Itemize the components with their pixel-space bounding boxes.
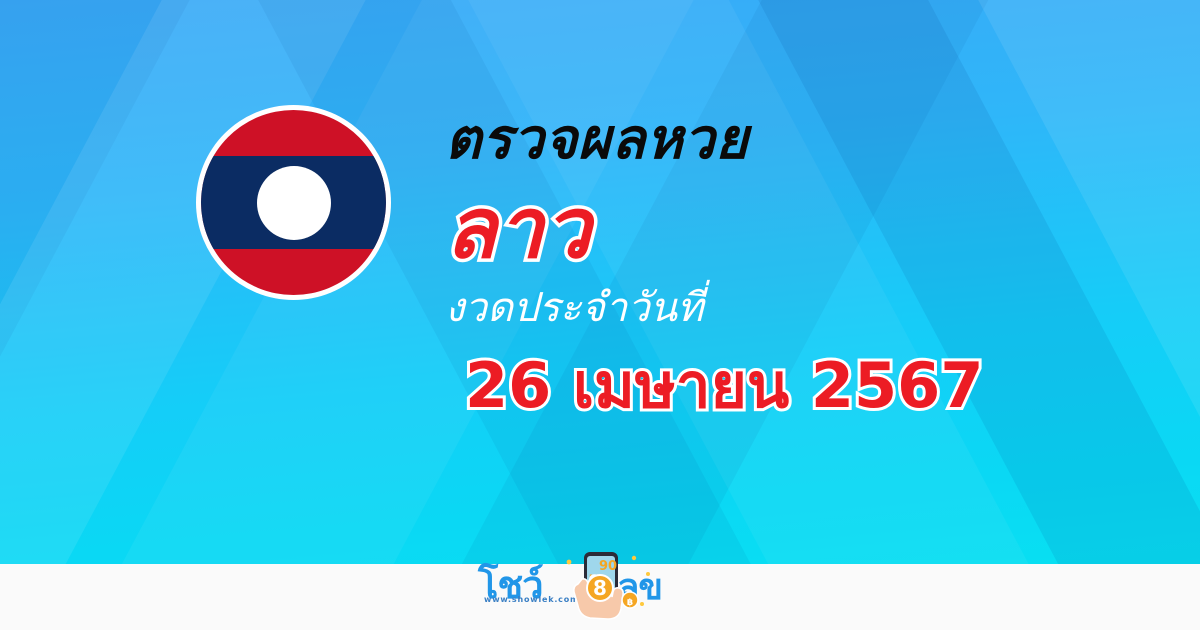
svg-text:8: 8 [593, 576, 607, 600]
flag-disc [201, 110, 386, 295]
site-logo[interactable]: โชว์ เลข www.showlek.com 90 5 8 ฿ [478, 558, 688, 624]
headline-check-results: ตรวจผลหวย [445, 112, 1145, 168]
headline-country: ลาว [445, 184, 1145, 272]
headline-group: ตรวจผลหวย ลาว งวดประจำวันที่ 26 เมษายน 2… [445, 112, 1145, 420]
bg-band-1 [0, 0, 72, 564]
banner-background: ตรวจผลหวย ลาว งวดประจำวันที่ 26 เมษายน 2… [0, 0, 1200, 564]
lottery-result-banner: ตรวจผลหวย ลาว งวดประจำวันที่ 26 เมษายน 2… [0, 0, 1200, 630]
hand-phone-icon: 90 5 8 ฿ [560, 548, 656, 626]
svg-text:฿: ฿ [627, 598, 633, 608]
laos-flag-icon [196, 105, 391, 300]
draw-date: 26 เมษายน 2567 [465, 352, 1145, 420]
svg-text:90: 90 [599, 559, 617, 574]
flag-white-circle [257, 166, 331, 240]
draw-label: งวดประจำวันที่ [445, 286, 1145, 330]
